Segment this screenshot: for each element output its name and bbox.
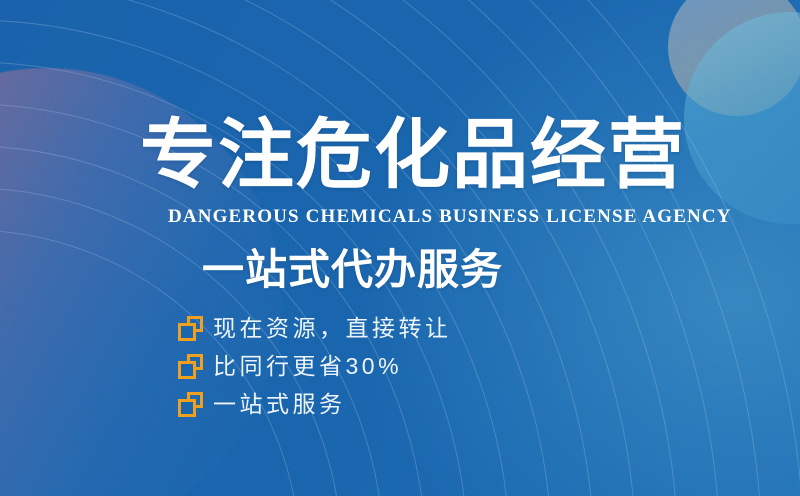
page-title: 专注危化品经营 [140, 112, 686, 200]
list-item-label: 一站式服务 [213, 390, 346, 419]
secondary-headline: 一站式代办服务 [202, 245, 503, 295]
overlapping-squares-icon [178, 316, 203, 341]
banner-content: 专注危化品经营 DANGEROUS CHEMICALS BUSINESS LIC… [0, 0, 800, 496]
overlapping-squares-icon [178, 392, 203, 417]
list-item: 比同行更省30% [178, 352, 452, 381]
feature-list: 现在资源，直接转让 比同行更省30% 一站式服务 [178, 314, 452, 419]
list-item-label: 比同行更省30% [213, 352, 402, 381]
english-subtitle: DANGEROUS CHEMICALS BUSINESS LICENSE AGE… [168, 205, 732, 229]
list-item: 现在资源，直接转让 [178, 314, 452, 343]
overlapping-squares-icon [178, 354, 203, 379]
list-item-label: 现在资源，直接转让 [213, 314, 452, 343]
list-item: 一站式服务 [178, 390, 452, 419]
promo-banner: 专注危化品经营 DANGEROUS CHEMICALS BUSINESS LIC… [0, 0, 800, 496]
